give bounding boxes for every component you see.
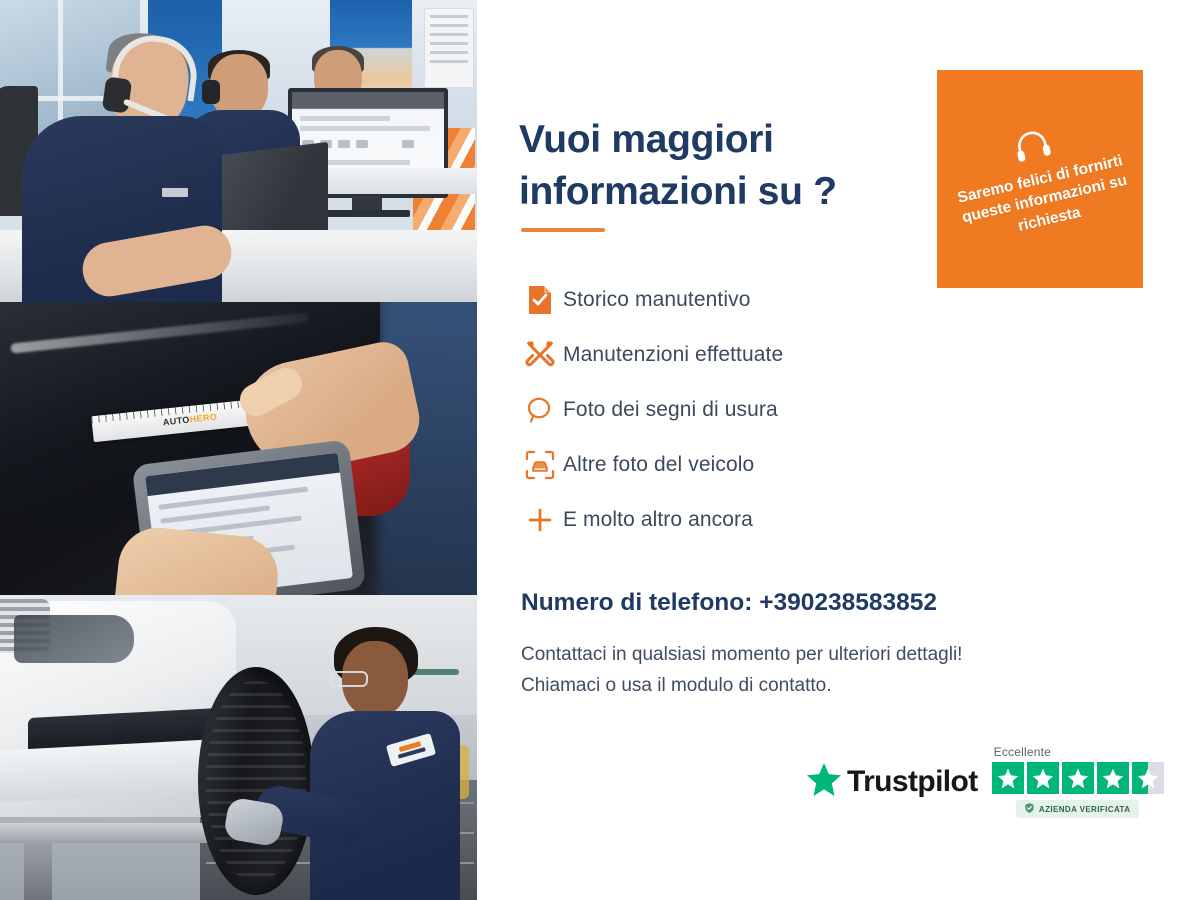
magnifier-icon bbox=[517, 396, 563, 424]
headset-icon bbox=[1009, 123, 1057, 172]
title-underline-accent bbox=[521, 228, 605, 232]
trustpilot-widget[interactable]: Trustpilot Eccellente bbox=[807, 745, 1164, 818]
wall-document bbox=[424, 8, 474, 88]
mechanic-wheel-photo bbox=[0, 595, 477, 900]
safety-glasses bbox=[330, 671, 368, 687]
star-half bbox=[1132, 762, 1164, 794]
mechanic-figure bbox=[300, 623, 460, 900]
headset-earcup bbox=[102, 76, 132, 113]
rating-label: Eccellente bbox=[994, 745, 1051, 759]
list-item: Manutenzioni effettuate bbox=[517, 327, 957, 382]
wrench-screwdriver-icon bbox=[517, 340, 563, 370]
list-item-label: Foto dei segni di usura bbox=[563, 398, 778, 422]
star-rating bbox=[992, 762, 1164, 794]
contact-copy-line-2: Chiamaci o usa il modulo di contatto. bbox=[521, 671, 1161, 702]
document-check-icon bbox=[517, 285, 563, 315]
page-title: Vuoi maggiori informazioni su ? bbox=[519, 114, 939, 217]
list-item: Foto dei segni di usura bbox=[517, 382, 957, 437]
list-item-label: Manutenzioni effettuate bbox=[563, 343, 783, 367]
agent-foreground bbox=[22, 38, 232, 302]
verified-business-badge: AZIENDA VERIFICATA bbox=[1016, 800, 1140, 818]
list-item-label: Altre foto del veicolo bbox=[563, 453, 754, 477]
star-filled bbox=[992, 762, 1024, 794]
availability-badge: Saremo felici di fornirti queste informa… bbox=[937, 70, 1143, 288]
trustpilot-wordmark: Trustpilot bbox=[847, 765, 978, 799]
car-scan-icon bbox=[517, 450, 563, 480]
feature-list: Storico manutentivo Manutenzioni effettu… bbox=[517, 272, 957, 547]
star-filled bbox=[1027, 762, 1059, 794]
plus-icon bbox=[517, 506, 563, 534]
removed-wheel bbox=[198, 667, 314, 895]
phone-number-heading: Numero di telefono: +390238583852 bbox=[521, 589, 937, 617]
list-item-label: E molto altro ancora bbox=[563, 508, 753, 532]
contact-copy: Contattaci in qualsiasi momento per ulte… bbox=[521, 640, 1161, 702]
monitor-base bbox=[326, 210, 410, 217]
shield-check-icon bbox=[1025, 803, 1034, 815]
list-item-label: Storico manutentivo bbox=[563, 288, 751, 312]
star-filled bbox=[1097, 762, 1129, 794]
uniform-logo bbox=[162, 188, 188, 197]
list-item: Storico manutentivo bbox=[517, 272, 957, 327]
star-filled bbox=[1062, 762, 1094, 794]
tyre-tread bbox=[206, 681, 306, 881]
vehicle-inspection-photo: AUTOHERO bbox=[0, 302, 477, 595]
trustpilot-rating: Eccellente bbox=[992, 745, 1164, 818]
list-item: Altre foto del veicolo bbox=[517, 437, 957, 492]
call-center-agents-photo bbox=[0, 0, 477, 302]
photo-column: AUTOHERO bbox=[0, 0, 477, 900]
contact-copy-line-1: Contattaci in qualsiasi momento per ulte… bbox=[521, 640, 1161, 671]
list-item: E molto altro ancora bbox=[517, 492, 957, 547]
trustpilot-logo: Trustpilot bbox=[807, 763, 978, 801]
verified-label: AZIENDA VERIFICATA bbox=[1039, 805, 1131, 814]
content-panel: Vuoi maggiori informazioni su ? Saremo f… bbox=[477, 0, 1200, 900]
car-lift-leg bbox=[24, 843, 52, 900]
car-headlight bbox=[14, 615, 134, 663]
trustpilot-star-icon bbox=[807, 763, 841, 801]
info-banner-page: AUTOHERO bbox=[0, 0, 1200, 900]
